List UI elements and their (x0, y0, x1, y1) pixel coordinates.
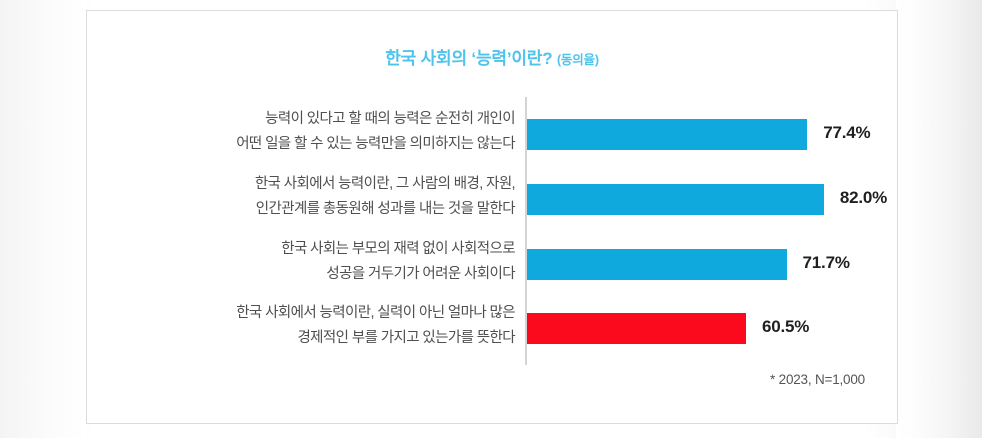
bar-container: 71.7% (527, 249, 887, 280)
category-label: 한국 사회는 부모의 재력 없이 사회적으로 성공을 거두기가 어려운 사회이다 (87, 237, 515, 287)
bar-value-label-1: 82.0% (840, 188, 887, 208)
chart-row: 능력이 있다고 할 때의 능력은 순전히 개인이 어떤 일을 할 수 있는 능력… (87, 107, 899, 159)
chart-row: 한국 사회는 부모의 재력 없이 사회적으로 성공을 거두기가 어려운 사회이다… (87, 237, 899, 289)
category-label-line1: 한국 사회에서 능력이란, 실력이 아닌 얼마나 많은 (236, 305, 515, 321)
category-label: 한국 사회에서 능력이란, 그 사람의 배경, 자원, 인간관계를 총동원해 성… (87, 172, 515, 222)
bar-2 (527, 249, 787, 280)
bar-1 (527, 184, 824, 215)
bar-container: 82.0% (527, 184, 887, 215)
chart-footnote: * 2023, N=1,000 (770, 372, 865, 387)
bar-container: 60.5% (527, 313, 887, 344)
bar-value-label-2: 71.7% (803, 253, 850, 273)
category-label-line2: 어떤 일을 할 수 있는 능력만을 의미하지는 않는다 (87, 132, 515, 157)
chart-title-main: 한국 사회의 ‘능력’이란? (385, 49, 552, 68)
category-label-line2: 인간관계를 총동원해 성과를 내는 것을 말한다 (87, 197, 515, 222)
category-label: 한국 사회에서 능력이란, 실력이 아닌 얼마나 많은 경제적인 부를 가지고 … (87, 301, 515, 351)
category-label: 능력이 있다고 할 때의 능력은 순전히 개인이 어떤 일을 할 수 있는 능력… (87, 107, 515, 157)
page-background: 한국 사회의 ‘능력’이란? (동의율) 능력이 있다고 할 때의 능력은 순전… (0, 0, 982, 438)
chart-row: 한국 사회에서 능력이란, 그 사람의 배경, 자원, 인간관계를 총동원해 성… (87, 172, 899, 224)
bar-value-label-0: 77.4% (823, 123, 870, 143)
category-label-line2: 성공을 거두기가 어려운 사회이다 (87, 262, 515, 287)
chart-title: 한국 사회의 ‘능력’이란? (동의율) (87, 44, 897, 69)
bar-value-label-3: 60.5% (762, 317, 809, 337)
bar-container: 77.4% (527, 119, 887, 150)
chart-title-subtitle: (동의율) (557, 53, 599, 67)
category-label-line2: 경제적인 부를 가지고 있는가를 뜻한다 (87, 326, 515, 351)
bar-chart-plot-area: 능력이 있다고 할 때의 능력은 순전히 개인이 어떤 일을 할 수 있는 능력… (87, 97, 899, 367)
chart-row: 한국 사회에서 능력이란, 실력이 아닌 얼마나 많은 경제적인 부를 가지고 … (87, 301, 899, 353)
category-label-line1: 한국 사회에서 능력이란, 그 사람의 배경, 자원, (255, 176, 515, 192)
bar-0 (527, 119, 807, 150)
bar-3 (527, 313, 746, 344)
category-label-line1: 능력이 있다고 할 때의 능력은 순전히 개인이 (265, 111, 515, 127)
chart-card: 한국 사회의 ‘능력’이란? (동의율) 능력이 있다고 할 때의 능력은 순전… (86, 10, 898, 424)
category-label-line1: 한국 사회는 부모의 재력 없이 사회적으로 (281, 241, 515, 257)
